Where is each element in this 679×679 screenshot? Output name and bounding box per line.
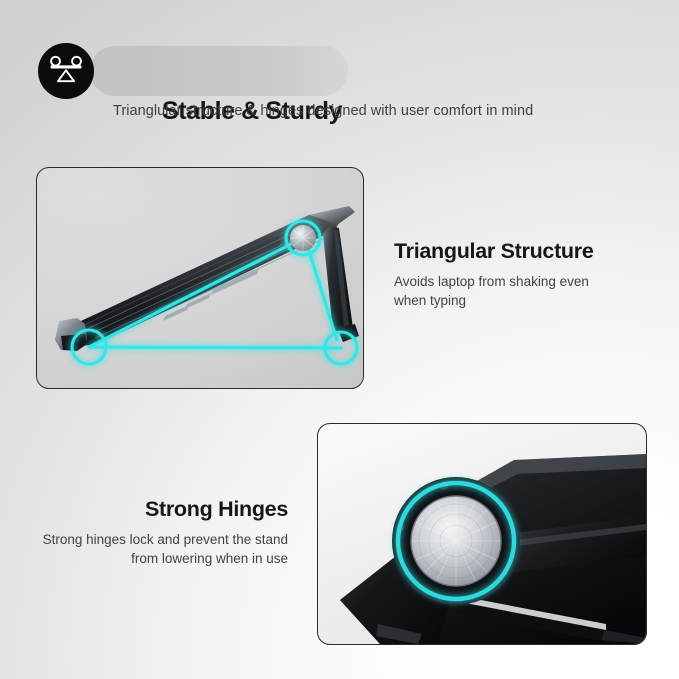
photo-panel-strong-hinges [317, 423, 647, 645]
vertex-marker-apex [286, 221, 320, 255]
laptop-stand-side-profile-illustration [37, 168, 363, 388]
feature-text-triangular-structure: Triangular Structure Avoids laptop from … [394, 240, 644, 310]
balance-scale-icon [38, 43, 94, 99]
feature-description: Avoids laptop from shaking even when typ… [394, 272, 609, 310]
header-subtitle: Trianglular structure & hinges designed … [113, 103, 533, 119]
feature-text-strong-hinges: Strong Hinges Strong hinges lock and pre… [38, 498, 288, 568]
feature-title: Strong Hinges [38, 498, 288, 522]
hinge-closeup-illustration [318, 424, 646, 644]
photo-panel-triangular-structure [36, 167, 364, 389]
badge-pill [90, 46, 348, 96]
feature-title: Triangular Structure [394, 240, 644, 264]
feature-description: Strong hinges lock and prevent the stand… [38, 530, 288, 568]
infographic-page: Stable & Sturdy Trianglular structure & … [0, 0, 679, 679]
header-block: Stable & Sturdy Trianglular structure & … [0, 0, 679, 150]
